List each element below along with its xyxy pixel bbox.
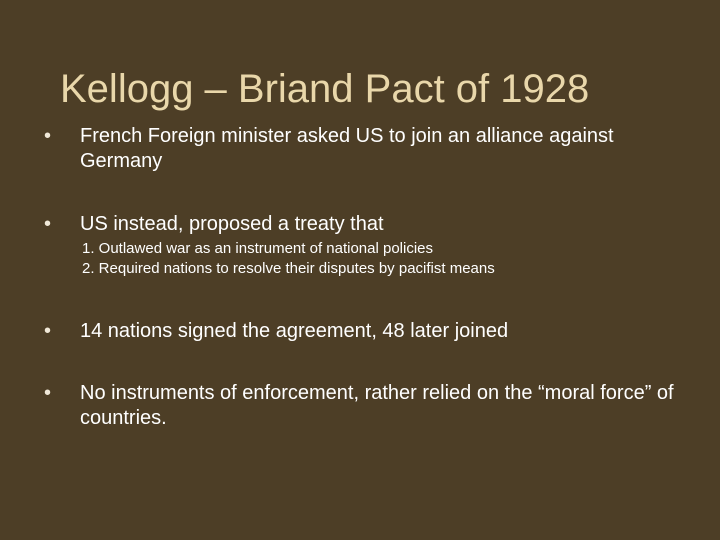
sub-item: 2. Required nations to resolve their dis… [80, 259, 686, 279]
bullet-item: • US instead, proposed a treaty that 1. … [36, 212, 686, 279]
slide-title: Kellogg – Briand Pact of 1928 [60, 65, 680, 113]
slide-body: • French Foreign minister asked US to jo… [36, 124, 686, 431]
bullet-text: French Foreign minister asked US to join… [80, 124, 686, 174]
spacer [36, 344, 686, 381]
bullet-text: 14 nations signed the agreement, 48 late… [80, 319, 686, 344]
spacer [36, 279, 686, 319]
sub-item: 1. Outlawed war as an instrument of nati… [80, 239, 686, 259]
bullet-point-icon: • [44, 124, 60, 149]
bullet-item: • 14 nations signed the agreement, 48 la… [36, 319, 686, 344]
bullet-text: US instead, proposed a treaty that [80, 212, 686, 237]
bullet-item: • No instruments of enforcement, rather … [36, 381, 686, 431]
bullet-point-icon: • [44, 381, 60, 406]
bullet-text: No instruments of enforcement, rather re… [80, 381, 686, 431]
sub-item-list: 1. Outlawed war as an instrument of nati… [80, 239, 686, 279]
bullet-item: • French Foreign minister asked US to jo… [36, 124, 686, 174]
bullet-point-icon: • [44, 212, 60, 237]
presentation-slide: Kellogg – Briand Pact of 1928 • French F… [0, 0, 720, 540]
bullet-point-icon: • [44, 319, 60, 344]
spacer [36, 174, 686, 212]
